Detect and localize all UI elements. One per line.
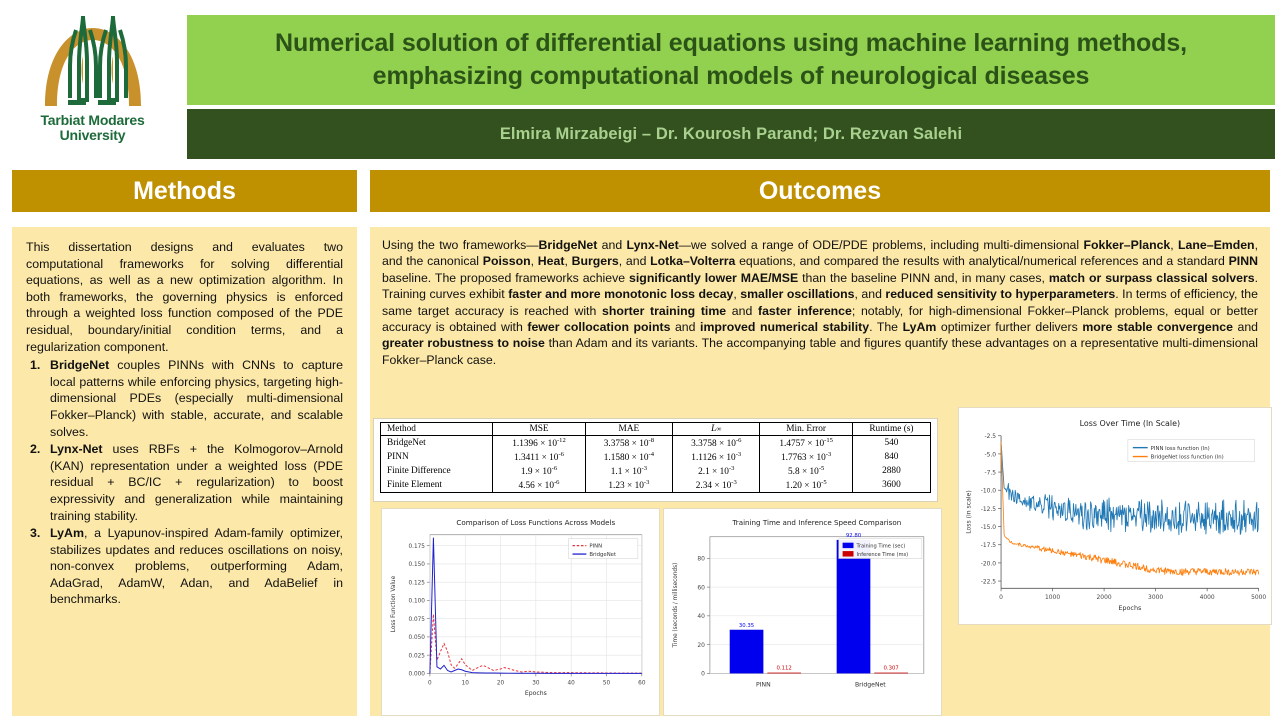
section-header-methods: Methods <box>12 170 357 212</box>
svg-text:0.075: 0.075 <box>409 617 426 623</box>
svg-text:BridgeNet loss function (ln): BridgeNet loss function (ln) <box>1151 455 1224 461</box>
methods-item-name: BridgeNet <box>50 358 109 372</box>
cell-min-error: 1.7763 × 10-3 <box>760 450 852 464</box>
methods-intro-paragraph: This dissertation designs and evaluates … <box>26 239 343 355</box>
poster-title: Numerical solution of differential equat… <box>187 27 1275 93</box>
outcomes-emphasis: more stable convergence <box>1082 320 1233 334</box>
loss-over-time-figure: Loss Over Time (ln Scale)-2.5-5.0-7.5-10… <box>958 407 1272 625</box>
svg-text:1000: 1000 <box>1045 594 1060 601</box>
svg-text:0: 0 <box>701 671 705 678</box>
outcomes-emphasis: Fokker–Planck <box>1083 238 1170 252</box>
results-table-row: PINN1.3411 × 10-61.1580 × 10-41.1126 × 1… <box>381 450 931 464</box>
outcomes-emphasis: smaller oscillations <box>740 287 854 301</box>
cell-mse: 1.9 × 10-6 <box>493 464 585 478</box>
svg-text:20: 20 <box>497 680 505 686</box>
svg-text:-22.5: -22.5 <box>981 578 997 585</box>
methods-list-item: BridgeNet couples PINNs with CNNs to cap… <box>26 357 343 440</box>
results-table-figure: MethodMSEMAEL∞Min. ErrorRuntime (s) Brid… <box>373 418 938 502</box>
svg-text:-17.5: -17.5 <box>981 542 997 549</box>
svg-text:0: 0 <box>999 594 1003 601</box>
university-name-line2: University <box>40 128 144 143</box>
svg-text:-15.0: -15.0 <box>981 524 997 531</box>
methods-panel: This dissertation designs and evaluates … <box>12 227 357 716</box>
cell-runtime: 2880 <box>852 464 930 478</box>
results-table: MethodMSEMAEL∞Min. ErrorRuntime (s) Brid… <box>380 422 931 493</box>
svg-text:Training Time (sec): Training Time (sec) <box>855 543 905 549</box>
cell-runtime: 840 <box>852 450 930 464</box>
svg-text:Inference Time (ms): Inference Time (ms) <box>856 552 908 558</box>
outcomes-paragraph: Using the two frameworks—BridgeNet and L… <box>382 237 1258 368</box>
cell-runtime: 540 <box>852 436 930 451</box>
svg-text:-2.5: -2.5 <box>985 433 997 440</box>
cell-linf: 2.1 × 10-3 <box>673 464 760 478</box>
outcomes-emphasis: PINN <box>1229 254 1258 268</box>
cell-mse: 1.1396 × 10-12 <box>493 436 585 451</box>
svg-text:0.112: 0.112 <box>777 666 792 672</box>
svg-text:60: 60 <box>638 680 646 686</box>
svg-text:30: 30 <box>532 680 540 686</box>
svg-text:0.125: 0.125 <box>409 580 426 586</box>
cell-linf: 2.34 × 10-3 <box>673 478 760 493</box>
section-title-methods: Methods <box>133 177 236 206</box>
svg-text:BridgeNet: BridgeNet <box>589 552 616 558</box>
outcomes-emphasis: Lynx-Net <box>627 238 679 252</box>
outcomes-emphasis: improved numerical stability <box>700 320 869 334</box>
results-table-body: BridgeNet1.1396 × 10-123.3758 × 10-83.37… <box>381 436 931 493</box>
svg-text:BridgeNet: BridgeNet <box>855 681 886 688</box>
results-table-head: MethodMSEMAEL∞Min. ErrorRuntime (s) <box>381 423 931 436</box>
svg-text:92.80: 92.80 <box>846 533 862 539</box>
cell-runtime: 3600 <box>852 478 930 493</box>
svg-text:0.150: 0.150 <box>409 562 426 568</box>
poster-authors: Elmira Mirzabeigi – Dr. Kourosh Parand; … <box>500 125 962 144</box>
svg-text:PINN loss function (ln): PINN loss function (ln) <box>1151 446 1210 452</box>
svg-text:Comparison of Loss Functions A: Comparison of Loss Functions Across Mode… <box>456 518 615 527</box>
svg-text:0.000: 0.000 <box>409 672 426 678</box>
svg-text:-5.0: -5.0 <box>985 451 997 458</box>
university-name: Tarbiat Modares University <box>40 113 144 143</box>
outcomes-emphasis: LyAm <box>903 320 937 334</box>
poster-authors-bar: Elmira Mirzabeigi – Dr. Kourosh Parand; … <box>187 109 1275 159</box>
results-table-row: BridgeNet1.1396 × 10-123.3758 × 10-83.37… <box>381 436 931 451</box>
svg-text:-10.0: -10.0 <box>981 488 997 495</box>
outcomes-emphasis: significantly lower MAE/MSE <box>629 271 798 285</box>
section-header-outcomes: Outcomes <box>370 170 1270 212</box>
cell-mae: 1.23 × 10-3 <box>585 478 672 493</box>
svg-text:-20.0: -20.0 <box>981 560 997 567</box>
cell-mae: 3.3758 × 10-8 <box>585 436 672 451</box>
training-time-figure: Training Time and Inference Speed Compar… <box>663 508 942 716</box>
svg-text:PINN: PINN <box>756 681 771 688</box>
svg-text:50: 50 <box>603 680 611 686</box>
cell-min-error: 1.20 × 10-5 <box>760 478 852 493</box>
svg-text:Loss Function Value: Loss Function Value <box>391 575 397 632</box>
svg-text:60: 60 <box>697 584 705 591</box>
loss-comparison-figure: Comparison of Loss Functions Across Mode… <box>381 508 660 716</box>
outcomes-emphasis: faster and more monotonic loss decay <box>508 287 733 301</box>
cell-method: Finite Difference <box>381 464 493 478</box>
svg-text:10: 10 <box>462 680 470 686</box>
svg-text:0.100: 0.100 <box>409 599 426 605</box>
outcomes-emphasis: shorter training time <box>602 304 726 318</box>
loss-over-time-chart: Loss Over Time (ln Scale)-2.5-5.0-7.5-10… <box>959 408 1271 624</box>
results-table-header-row: MethodMSEMAEL∞Min. ErrorRuntime (s) <box>381 423 931 436</box>
svg-text:2000: 2000 <box>1097 594 1112 601</box>
outcomes-emphasis: match or surpass classical solvers <box>1049 271 1255 285</box>
svg-text:80: 80 <box>697 555 705 562</box>
svg-text:Training Time and Inference Sp: Training Time and Inference Speed Compar… <box>731 518 901 527</box>
cell-mae: 1.1580 × 10-4 <box>585 450 672 464</box>
svg-text:40: 40 <box>697 613 705 620</box>
svg-text:40: 40 <box>568 680 576 686</box>
outcomes-emphasis: faster inference <box>758 304 852 318</box>
svg-text:PINN: PINN <box>589 544 602 550</box>
poster-root: Tarbiat Modares University Numerical sol… <box>0 0 1280 720</box>
svg-text:0.025: 0.025 <box>409 653 426 659</box>
svg-text:30.35: 30.35 <box>739 623 754 629</box>
results-table-column-header: MAE <box>585 423 672 436</box>
svg-text:Epochs: Epochs <box>525 690 547 697</box>
cell-mae: 1.1 × 10-3 <box>585 464 672 478</box>
cell-method: PINN <box>381 450 493 464</box>
svg-text:Epochs: Epochs <box>1118 604 1142 612</box>
svg-text:5000: 5000 <box>1251 594 1266 601</box>
results-table-row: Finite Difference1.9 × 10-61.1 × 10-32.1… <box>381 464 931 478</box>
cell-min-error: 1.4757 × 10-15 <box>760 436 852 451</box>
cell-method: BridgeNet <box>381 436 493 451</box>
cell-linf: 3.3758 × 10-6 <box>673 436 760 451</box>
university-logo: Tarbiat Modares University <box>0 0 185 160</box>
outcomes-emphasis: Heat <box>538 254 565 268</box>
results-table-column-header: Method <box>381 423 493 436</box>
outcomes-emphasis: fewer collocation points <box>527 320 670 334</box>
svg-text:Loss (in scale): Loss (in scale) <box>965 490 972 533</box>
poster-header: Tarbiat Modares University Numerical sol… <box>0 0 1280 160</box>
results-table-column-header: MSE <box>493 423 585 436</box>
svg-text:20: 20 <box>697 642 705 649</box>
poster-title-bar: Numerical solution of differential equat… <box>187 15 1275 105</box>
svg-text:3000: 3000 <box>1148 594 1163 601</box>
svg-text:0.050: 0.050 <box>409 635 426 641</box>
tarbiat-modares-logo-icon <box>33 12 153 112</box>
outcomes-emphasis: Lotka–Volterra <box>650 254 735 268</box>
training-time-chart: Training Time and Inference Speed Compar… <box>664 509 941 715</box>
methods-item-name: Lynx-Net <box>50 442 103 456</box>
cell-linf: 1.1126 × 10-3 <box>673 450 760 464</box>
svg-text:0: 0 <box>428 680 432 686</box>
methods-list-item: Lynx-Net uses RBFs + the Kolmogorov–Arno… <box>26 441 343 524</box>
results-table-column-header: Min. Error <box>760 423 852 436</box>
outcomes-emphasis: greater robustness to noise <box>382 336 545 350</box>
outcomes-emphasis: Lane–Emden <box>1178 238 1255 252</box>
outcomes-emphasis: Burgers <box>572 254 619 268</box>
svg-text:Loss Over Time (ln Scale): Loss Over Time (ln Scale) <box>1080 419 1180 428</box>
svg-text:Time (seconds / milliseconds): Time (seconds / milliseconds) <box>673 563 679 649</box>
cell-method: Finite Element <box>381 478 493 493</box>
section-title-outcomes: Outcomes <box>759 177 881 206</box>
svg-text:-7.5: -7.5 <box>985 469 997 476</box>
methods-list: BridgeNet couples PINNs with CNNs to cap… <box>26 357 343 608</box>
cell-min-error: 5.8 × 10-5 <box>760 464 852 478</box>
outcomes-emphasis: reduced sensitivity to hyperparameters <box>885 287 1115 301</box>
svg-text:0.175: 0.175 <box>409 544 426 550</box>
svg-text:4000: 4000 <box>1200 594 1215 601</box>
methods-item-name: LyAm <box>50 526 84 540</box>
university-name-line1: Tarbiat Modares <box>40 113 144 128</box>
loss-comparison-chart: Comparison of Loss Functions Across Mode… <box>382 509 659 715</box>
outcomes-emphasis: BridgeNet <box>539 238 598 252</box>
cell-mse: 1.3411 × 10-6 <box>493 450 585 464</box>
results-table-row: Finite Element4.56 × 10-61.23 × 10-32.34… <box>381 478 931 493</box>
svg-text:0.307: 0.307 <box>884 666 899 672</box>
cell-mse: 4.56 × 10-6 <box>493 478 585 493</box>
svg-text:-12.5: -12.5 <box>981 506 997 513</box>
results-table-column-header: L∞ <box>673 423 760 436</box>
results-table-column-header: Runtime (s) <box>852 423 930 436</box>
methods-list-item: LyAm, a Lyapunov-inspired Adam-family op… <box>26 525 343 608</box>
outcomes-emphasis: Poisson <box>483 254 531 268</box>
